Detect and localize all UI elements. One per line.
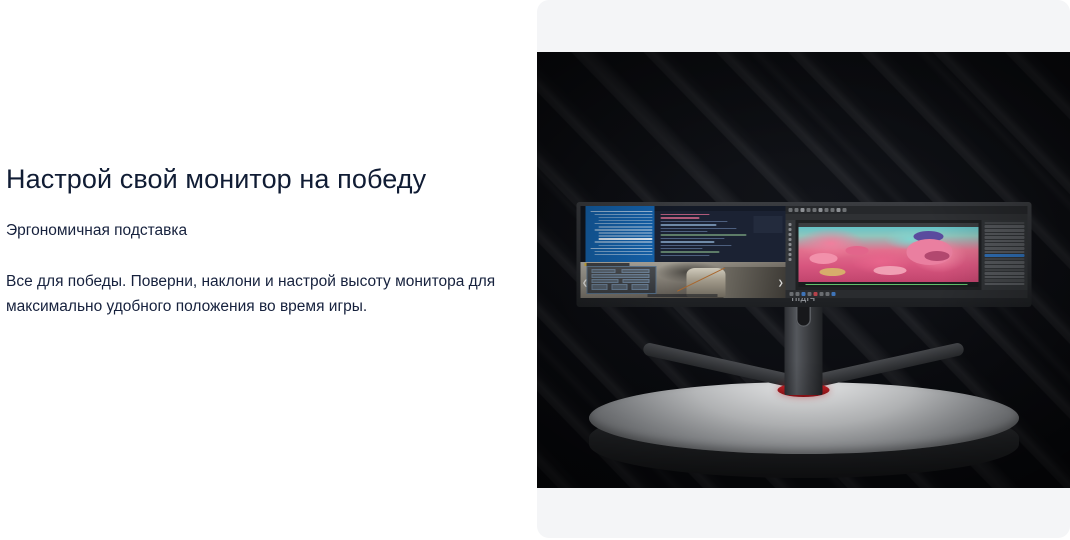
promo-banner: Настрой свой монитор на победу Эргономич… [0, 0, 1070, 540]
text-column: Настрой свой монитор на победу Эргономич… [0, 0, 520, 540]
feature-subheading: Эргономичная подставка [6, 220, 486, 242]
feature-description: Все для победы. Поверни, наклони и настр… [6, 269, 498, 319]
product-photo: ПІДІЧ [537, 52, 1070, 488]
media-card: ПІДІЧ [537, 0, 1070, 538]
page-title: Настрой свой монитор на победу [6, 163, 506, 197]
photo-vignette [537, 52, 1070, 488]
